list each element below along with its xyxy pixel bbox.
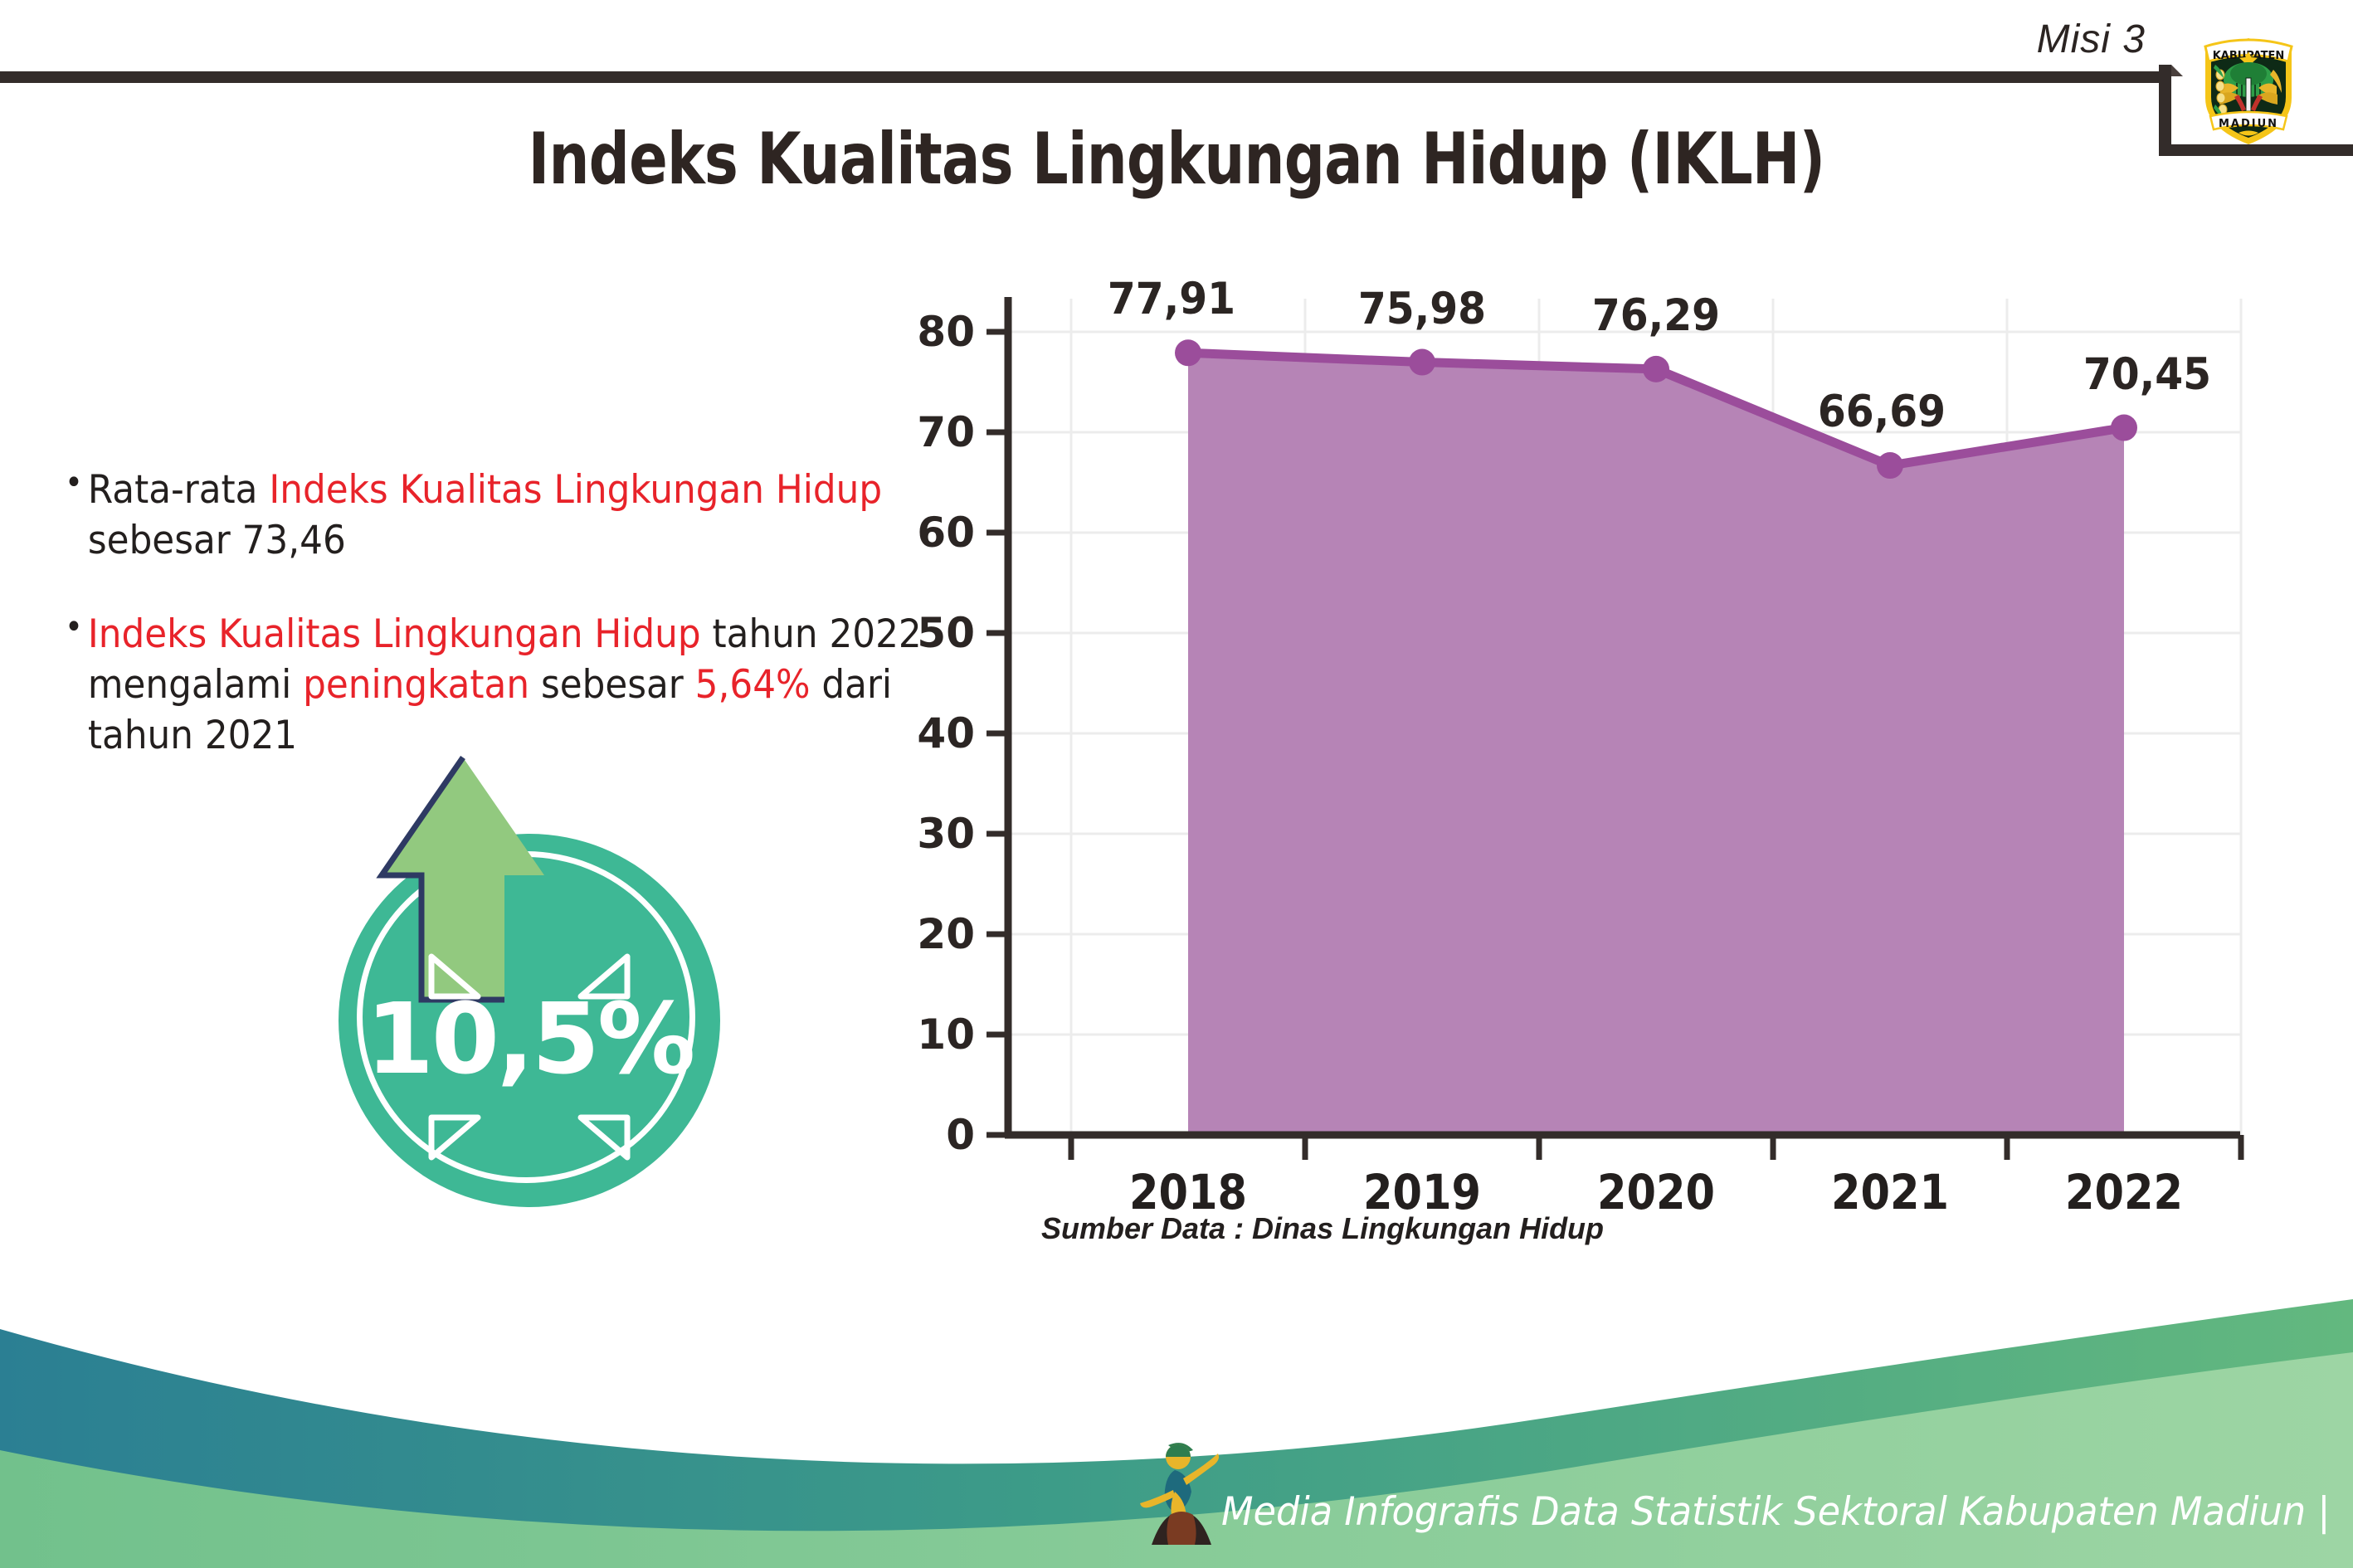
header-rule-vertical: [2159, 65, 2171, 156]
bullet-text-run: Indeks Kualitas Lingkungan Hidup: [88, 611, 701, 657]
svg-text:MADIUN: MADIUN: [2219, 118, 2278, 130]
x-axis-tick-label: 2020: [1583, 1164, 1729, 1220]
data-point-marker: [2111, 415, 2137, 441]
data-point-marker: [1643, 356, 1669, 382]
bullet-text-run: 5,64%: [695, 662, 811, 708]
mission-label: Misi 3: [2037, 17, 2146, 62]
data-point-label: 76,29: [1556, 290, 1755, 341]
media-infografis-figure-icon: [1135, 1435, 1228, 1551]
bullet-item: Rata-rata Indeks Kualitas Lingkungan Hid…: [65, 465, 929, 566]
bullet-item: Indeks Kualitas Lingkungan Hidup tahun 2…: [65, 609, 929, 761]
data-point-label: 70,45: [2048, 349, 2246, 400]
y-axis-tick-label: 40: [875, 713, 975, 754]
iklh-area-chart: 01020304050607080 20182019202020212022 7…: [983, 295, 2277, 1273]
data-point-label: 77,91: [1072, 274, 1270, 324]
data-point-marker: [1877, 452, 1903, 479]
bullet-text-run: sebesar 73,46: [88, 518, 346, 563]
x-axis-tick-label: 2021: [1817, 1164, 1963, 1220]
data-point-label: 66,69: [1782, 387, 1980, 437]
y-axis-tick-label: 60: [875, 512, 975, 553]
header-rule-horizontal: [0, 71, 2170, 83]
data-point-marker: [1409, 349, 1435, 376]
y-axis-tick-label: 20: [875, 913, 975, 955]
y-axis-tick-label: 80: [875, 311, 975, 353]
bullet-text-run: peningkatan: [303, 662, 529, 708]
badge-percent-value: 10,5%: [339, 990, 720, 1088]
bullet-text-run: Indeks Kualitas Lingkungan Hidup: [269, 467, 882, 513]
bullet-text-run: sebesar: [529, 662, 695, 708]
bullet-text-run: Rata-rata: [88, 467, 269, 513]
area-fill: [1188, 353, 2124, 1135]
increase-badge: 10,5%: [324, 751, 755, 1215]
y-axis-tick-label: 70: [875, 411, 975, 453]
kabupaten-madiun-crest-icon: KABUPATEN MADIUN: [2190, 18, 2307, 151]
data-point-marker: [1175, 339, 1201, 366]
y-axis-tick-label: 10: [875, 1014, 975, 1055]
y-axis-tick-label: 0: [875, 1114, 975, 1156]
page-title: Indeks Kualitas Lingkungan Hidup (IKLH): [236, 118, 2118, 201]
source-note: Sumber Data : Dinas Lingkungan Hidup: [1041, 1211, 1604, 1246]
y-axis-tick-label: 50: [875, 612, 975, 654]
footer-caption: Media Infografis Data Statistik Sektoral…: [1221, 1489, 2330, 1535]
infographic-page: Misi 3 KABUPATEN: [0, 0, 2353, 1568]
data-point-label: 75,98: [1323, 284, 1521, 334]
y-axis-tick-label: 30: [875, 813, 975, 855]
x-axis-tick-label: 2022: [2051, 1164, 2197, 1220]
